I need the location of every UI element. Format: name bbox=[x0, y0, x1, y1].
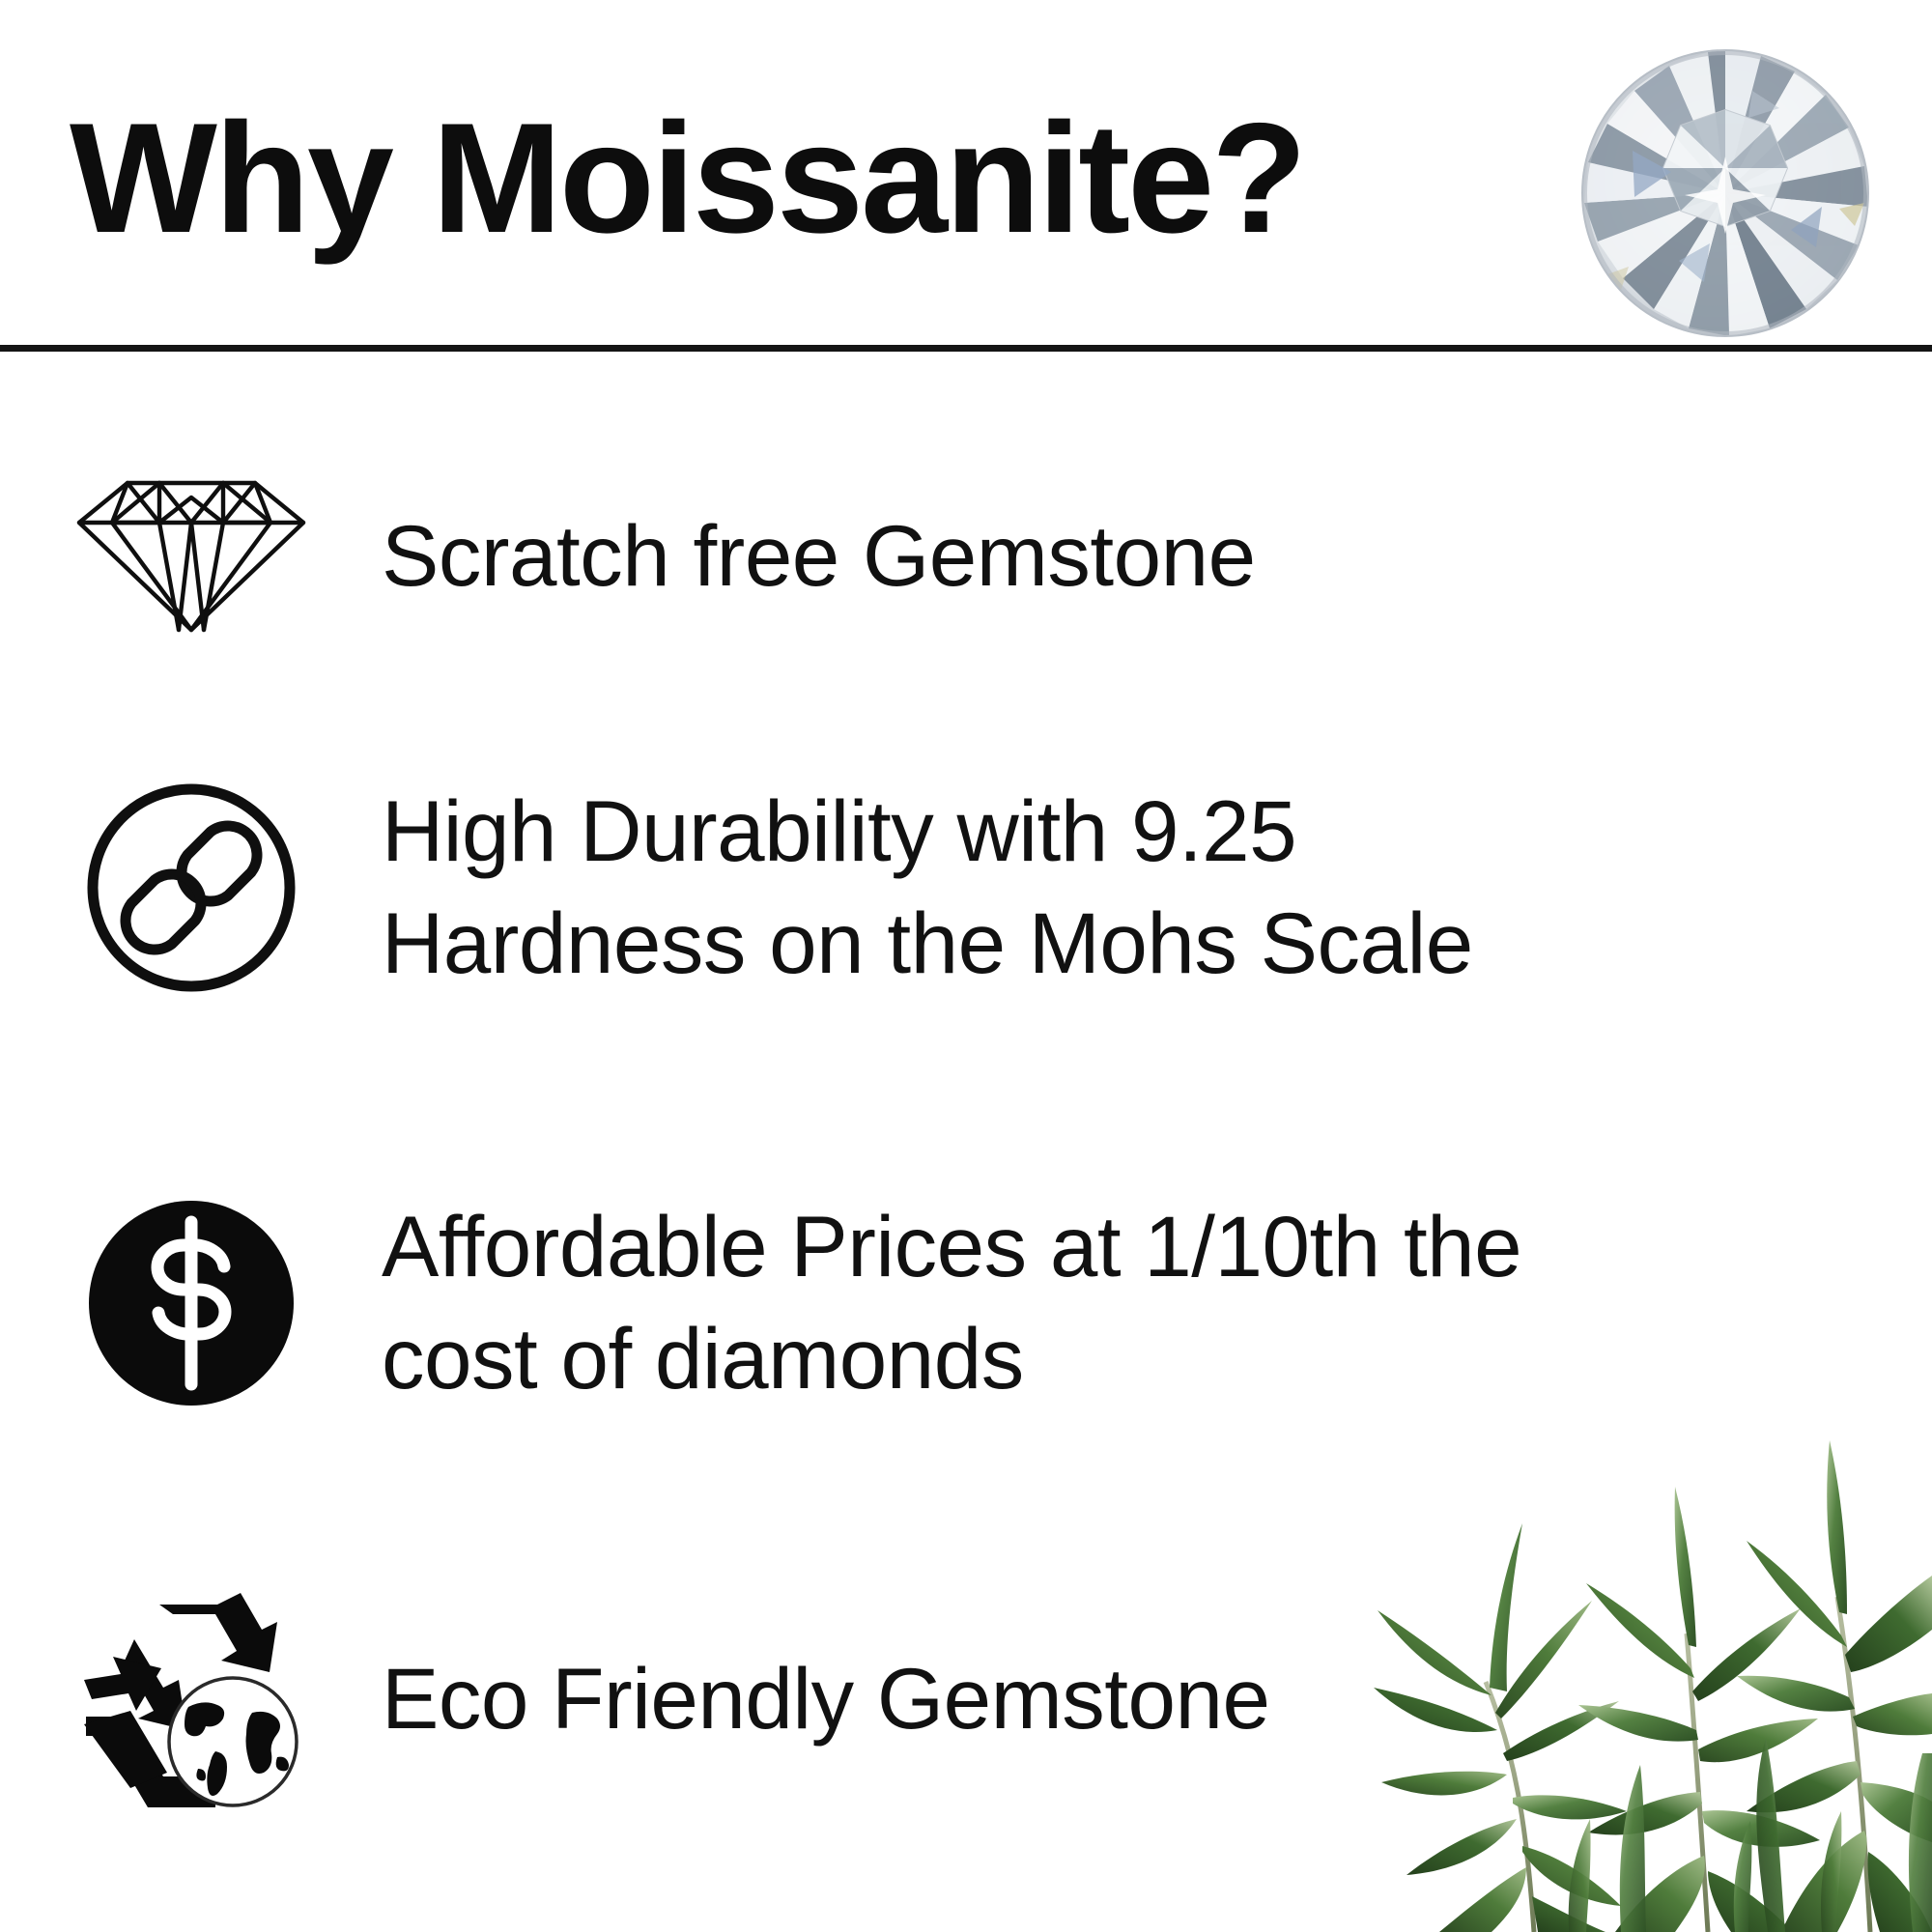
infographic-canvas: Why Moissanite? bbox=[0, 0, 1932, 1932]
feature-line: cost of diamonds bbox=[382, 1303, 1893, 1415]
feature-row: High Durability with 9.25 Hardness on th… bbox=[0, 728, 1932, 1047]
feature-line: Affordable Prices at 1/10th the bbox=[382, 1191, 1893, 1303]
page-title: Why Moissanite? bbox=[70, 100, 1304, 257]
feature-row: Scratch free Gemstone bbox=[0, 412, 1932, 701]
feature-text: High Durability with 9.25 Hardness on th… bbox=[382, 776, 1932, 999]
feature-text: Eco Friendly Gemstone bbox=[382, 1643, 1932, 1755]
diamond-outline-icon bbox=[0, 412, 382, 701]
round-brilliant-moissanite-photo bbox=[1563, 27, 1888, 352]
feature-text: Scratch free Gemstone bbox=[382, 500, 1932, 612]
header-divider bbox=[0, 345, 1932, 352]
dollar-coin-icon bbox=[0, 1144, 382, 1463]
feature-row: Eco Friendly Gemstone bbox=[0, 1540, 1932, 1859]
feature-row: Affordable Prices at 1/10th the cost of … bbox=[0, 1144, 1932, 1463]
feature-line: Scratch free Gemstone bbox=[382, 500, 1893, 612]
feature-line: High Durability with 9.25 bbox=[382, 776, 1893, 888]
header: Why Moissanite? bbox=[0, 0, 1932, 350]
recycle-globe-icon bbox=[0, 1540, 382, 1859]
feature-line: Hardness on the Mohs Scale bbox=[382, 888, 1893, 1000]
feature-line: Eco Friendly Gemstone bbox=[382, 1643, 1893, 1755]
feature-text: Affordable Prices at 1/10th the cost of … bbox=[382, 1191, 1932, 1414]
feature-list: Scratch free Gemstone High Durability wi… bbox=[0, 352, 1932, 1932]
link-circle-icon bbox=[0, 728, 382, 1047]
